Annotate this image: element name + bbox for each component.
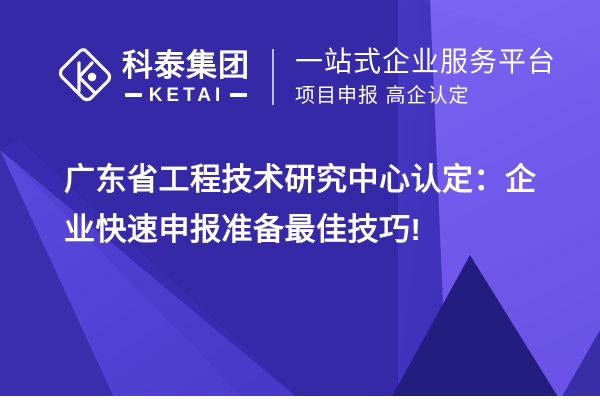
tagline-block: 一站式企业服务平台 项目申报 高企认定 — [295, 46, 556, 107]
banner-content: 科泰集团 KETAI 一站式企业服务平台 项目申报 高企认定 广东省工程技术研究… — [0, 0, 600, 400]
ketai-diamond-k-logo-icon — [56, 46, 114, 108]
brand-text-block: 科泰集团 KETAI — [122, 49, 250, 104]
brand-lockup: 科泰集团 KETAI — [56, 46, 250, 108]
bottom-white-strip — [0, 396, 600, 400]
headline-block: 广东省工程技术研究中心认定：企 业快速申报准备最佳技巧! — [64, 155, 564, 255]
brand-en-row: KETAI — [122, 86, 250, 105]
brand-name-en: KETAI — [149, 86, 225, 105]
header-vertical-divider — [272, 49, 274, 105]
promo-banner: 科泰集团 KETAI 一站式企业服务平台 项目申报 高企认定 广东省工程技术研究… — [0, 0, 600, 400]
brand-dash-left-icon — [125, 93, 142, 97]
headline-line-2: 业快速申报准备最佳技巧! — [64, 205, 564, 255]
tagline-main: 一站式企业服务平台 — [295, 46, 556, 78]
headline-line-1: 广东省工程技术研究中心认定：企 — [64, 155, 564, 205]
brand-dash-right-icon — [230, 93, 247, 97]
logo-dot-accent — [88, 73, 96, 81]
brand-name-cn: 科泰集团 — [122, 49, 250, 82]
tagline-sub: 项目申报 高企认定 — [295, 84, 556, 108]
banner-header: 科泰集团 KETAI 一站式企业服务平台 项目申报 高企认定 — [0, 38, 600, 116]
